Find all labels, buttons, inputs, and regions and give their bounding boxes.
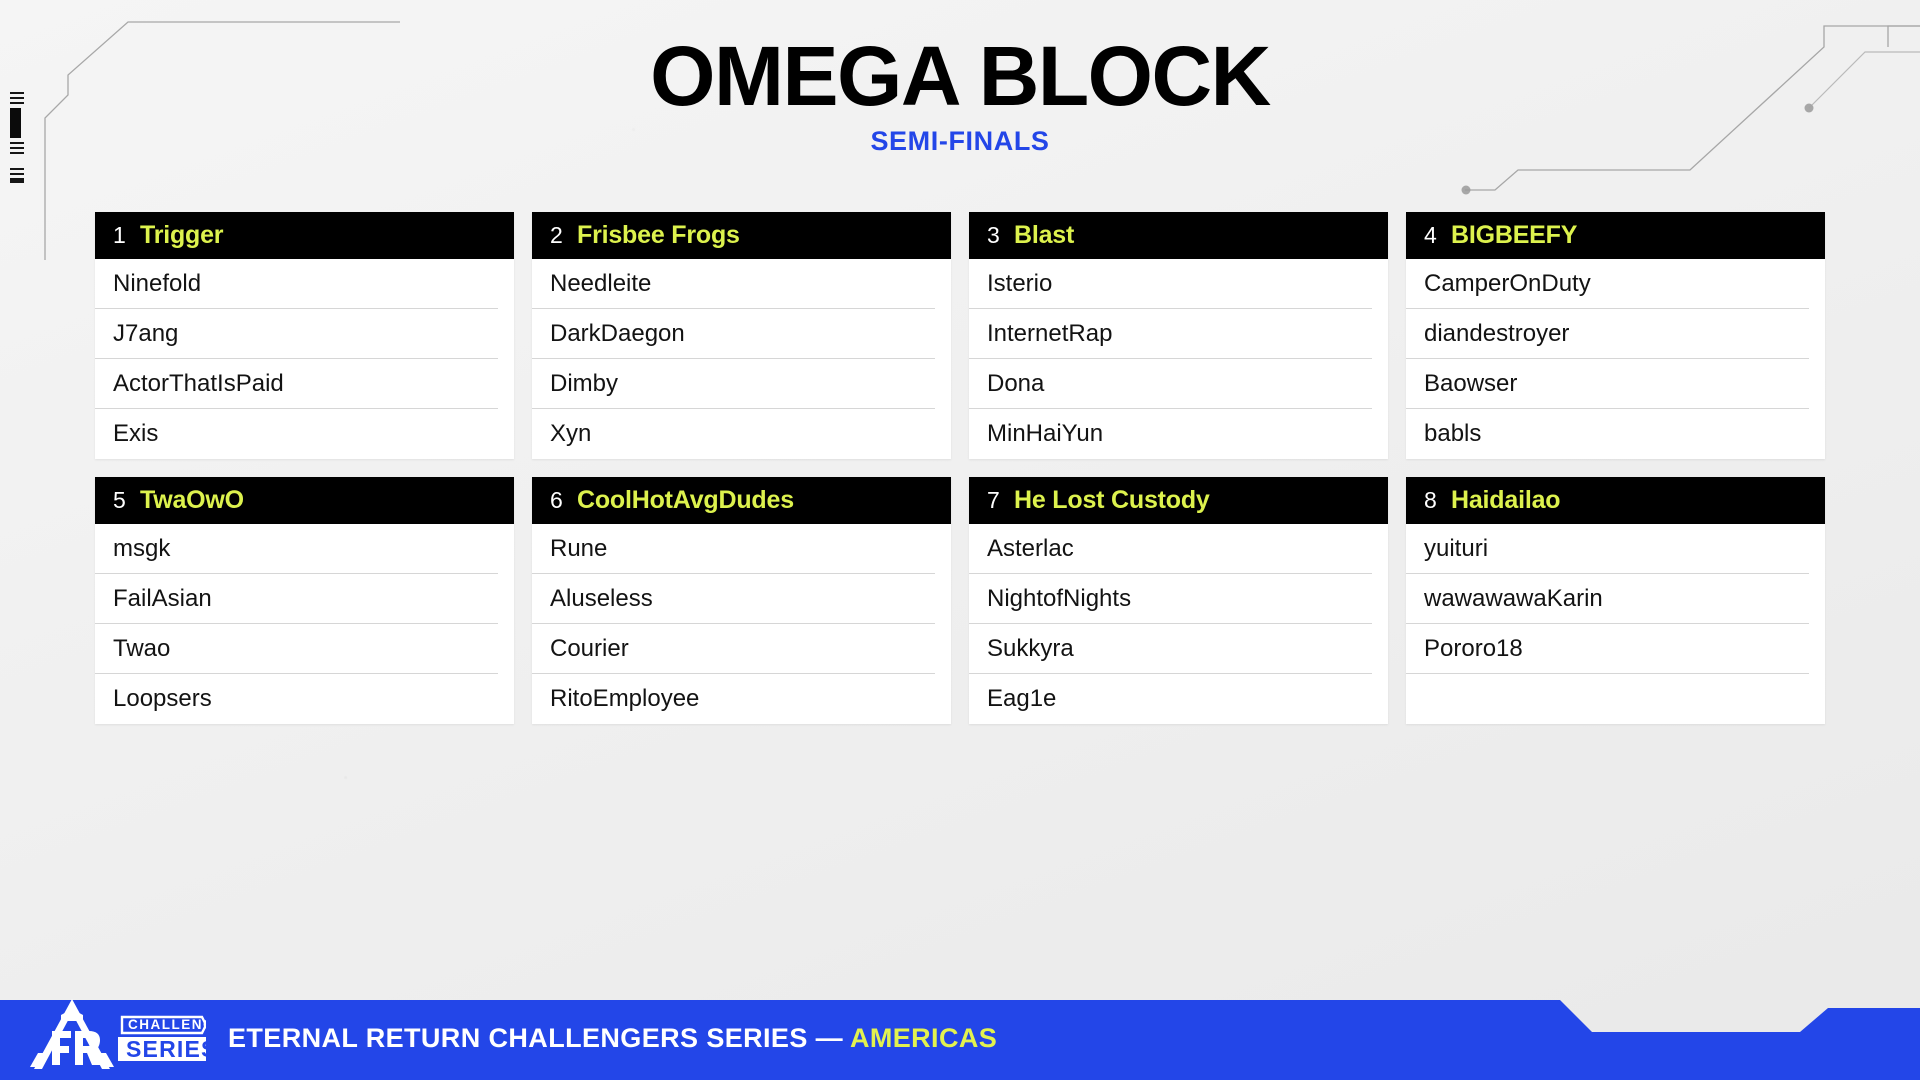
player-row: RitoEmployee: [532, 674, 935, 724]
team-player-list: Rune Aluseless Courier RitoEmployee: [532, 524, 951, 724]
team-name: BIGBEEFY: [1451, 221, 1577, 250]
team-card-header: 8 Haidailao: [1406, 477, 1825, 524]
team-rank: 5: [113, 487, 126, 514]
er-logo-icon: CHALLENGERS SERIES: [26, 995, 206, 1079]
edge-marker-group-bottom: [10, 168, 24, 183]
team-player-list: Ninefold J7ang ActorThatIsPaid Exis: [95, 259, 514, 459]
player-row: J7ang: [95, 309, 498, 359]
team-name: TwaOwO: [140, 486, 244, 515]
team-player-list: msgk FailAsian Twao Loopsers: [95, 524, 514, 724]
player-row: Xyn: [532, 409, 935, 459]
team-rank: 7: [987, 487, 1000, 514]
team-name: Blast: [1014, 221, 1074, 250]
team-card[interactable]: 6 CoolHotAvgDudes Rune Aluseless Courier…: [532, 477, 951, 724]
player-row: Baowser: [1406, 359, 1809, 409]
er-challengers-logo: CHALLENGERS SERIES: [26, 995, 206, 1079]
player-row: Asterlac: [969, 524, 1372, 574]
page-title-text: OMEGA BLOCK: [650, 29, 1270, 123]
player-row: MinHaiYun: [969, 409, 1372, 459]
team-card-header: 7 He Lost Custody: [969, 477, 1388, 524]
team-card[interactable]: 4 BIGBEEFY CamperOnDuty diandestroyer Ba…: [1406, 212, 1825, 459]
team-name: CoolHotAvgDudes: [577, 486, 794, 515]
team-name: He Lost Custody: [1014, 486, 1210, 515]
player-row: diandestroyer: [1406, 309, 1809, 359]
player-row: FailAsian: [95, 574, 498, 624]
player-row: NightofNights: [969, 574, 1372, 624]
footer-bar: CHALLENGERS SERIES ETERNAL RETURN CHALLE…: [0, 970, 1920, 1080]
player-row: Aluseless: [532, 574, 935, 624]
player-row: Dona: [969, 359, 1372, 409]
player-row: InternetRap: [969, 309, 1372, 359]
team-name: Frisbee Frogs: [577, 221, 740, 250]
player-row: yuituri: [1406, 524, 1809, 574]
logo-challengers-text: CHALLENGERS: [128, 1017, 206, 1032]
player-row: Needleite: [532, 259, 935, 309]
team-name: Haidailao: [1451, 486, 1560, 515]
player-row: Pororo18: [1406, 624, 1809, 674]
player-row: babls: [1406, 409, 1809, 459]
team-rank: 3: [987, 222, 1000, 249]
team-card[interactable]: 5 TwaOwO msgk FailAsian Twao Loopsers: [95, 477, 514, 724]
player-row: Eag1e: [969, 674, 1372, 724]
player-row: Rune: [532, 524, 935, 574]
team-card[interactable]: 1 Trigger Ninefold J7ang ActorThatIsPaid…: [95, 212, 514, 459]
team-rank: 1: [113, 222, 126, 249]
player-row: Courier: [532, 624, 935, 674]
player-row: Ninefold: [95, 259, 498, 309]
page-subtitle: SEMI-FINALS: [0, 126, 1920, 157]
player-row: Sukkyra: [969, 624, 1372, 674]
team-card-header: 2 Frisbee Frogs: [532, 212, 951, 259]
player-row: Exis: [95, 409, 498, 459]
footer-title: ETERNAL RETURN CHALLENGERS SERIES — AMER…: [228, 1023, 997, 1054]
page-title: OMEGA BLOCK: [650, 34, 1270, 120]
team-player-list: Needleite DarkDaegon Dimby Xyn: [532, 259, 951, 459]
team-card-header: 1 Trigger: [95, 212, 514, 259]
team-grid: 1 Trigger Ninefold J7ang ActorThatIsPaid…: [95, 212, 1825, 724]
team-player-list: yuituri wawawawaKarin Pororo18: [1406, 524, 1825, 724]
player-row: Twao: [95, 624, 498, 674]
player-row: ActorThatIsPaid: [95, 359, 498, 409]
player-row: DarkDaegon: [532, 309, 935, 359]
team-rank: 4: [1424, 222, 1437, 249]
team-card-header: 5 TwaOwO: [95, 477, 514, 524]
player-row: Isterio: [969, 259, 1372, 309]
team-card[interactable]: 7 He Lost Custody Asterlac NightofNights…: [969, 477, 1388, 724]
team-card-header: 3 Blast: [969, 212, 1388, 259]
team-card-header: 6 CoolHotAvgDudes: [532, 477, 951, 524]
team-player-list: Isterio InternetRap Dona MinHaiYun: [969, 259, 1388, 459]
player-row-empty: [1406, 674, 1809, 724]
team-rank: 2: [550, 222, 563, 249]
team-card-header: 4 BIGBEEFY: [1406, 212, 1825, 259]
broadcast-overlay: OMEGA BLOCK SEMI-FINALS 1 Trigger Ninefo…: [0, 0, 1920, 1080]
logo-series-text: SERIES: [126, 1036, 206, 1062]
team-name: Trigger: [140, 221, 223, 250]
team-card[interactable]: 3 Blast Isterio InternetRap Dona MinHaiY…: [969, 212, 1388, 459]
team-card[interactable]: 2 Frisbee Frogs Needleite DarkDaegon Dim…: [532, 212, 951, 459]
player-row: msgk: [95, 524, 498, 574]
team-player-list: Asterlac NightofNights Sukkyra Eag1e: [969, 524, 1388, 724]
title-block: OMEGA BLOCK SEMI-FINALS: [0, 34, 1920, 157]
team-rank: 8: [1424, 487, 1437, 514]
footer-title-main: ETERNAL RETURN CHALLENGERS SERIES —: [228, 1023, 850, 1053]
player-row: CamperOnDuty: [1406, 259, 1809, 309]
team-rank: 6: [550, 487, 563, 514]
player-row: Loopsers: [95, 674, 498, 724]
footer-content: CHALLENGERS SERIES ETERNAL RETURN CHALLE…: [0, 1000, 997, 1080]
player-row: wawawawaKarin: [1406, 574, 1809, 624]
footer-title-region: AMERICAS: [850, 1023, 997, 1053]
team-card[interactable]: 8 Haidailao yuituri wawawawaKarin Pororo…: [1406, 477, 1825, 724]
player-row: Dimby: [532, 359, 935, 409]
team-player-list: CamperOnDuty diandestroyer Baowser babls: [1406, 259, 1825, 459]
